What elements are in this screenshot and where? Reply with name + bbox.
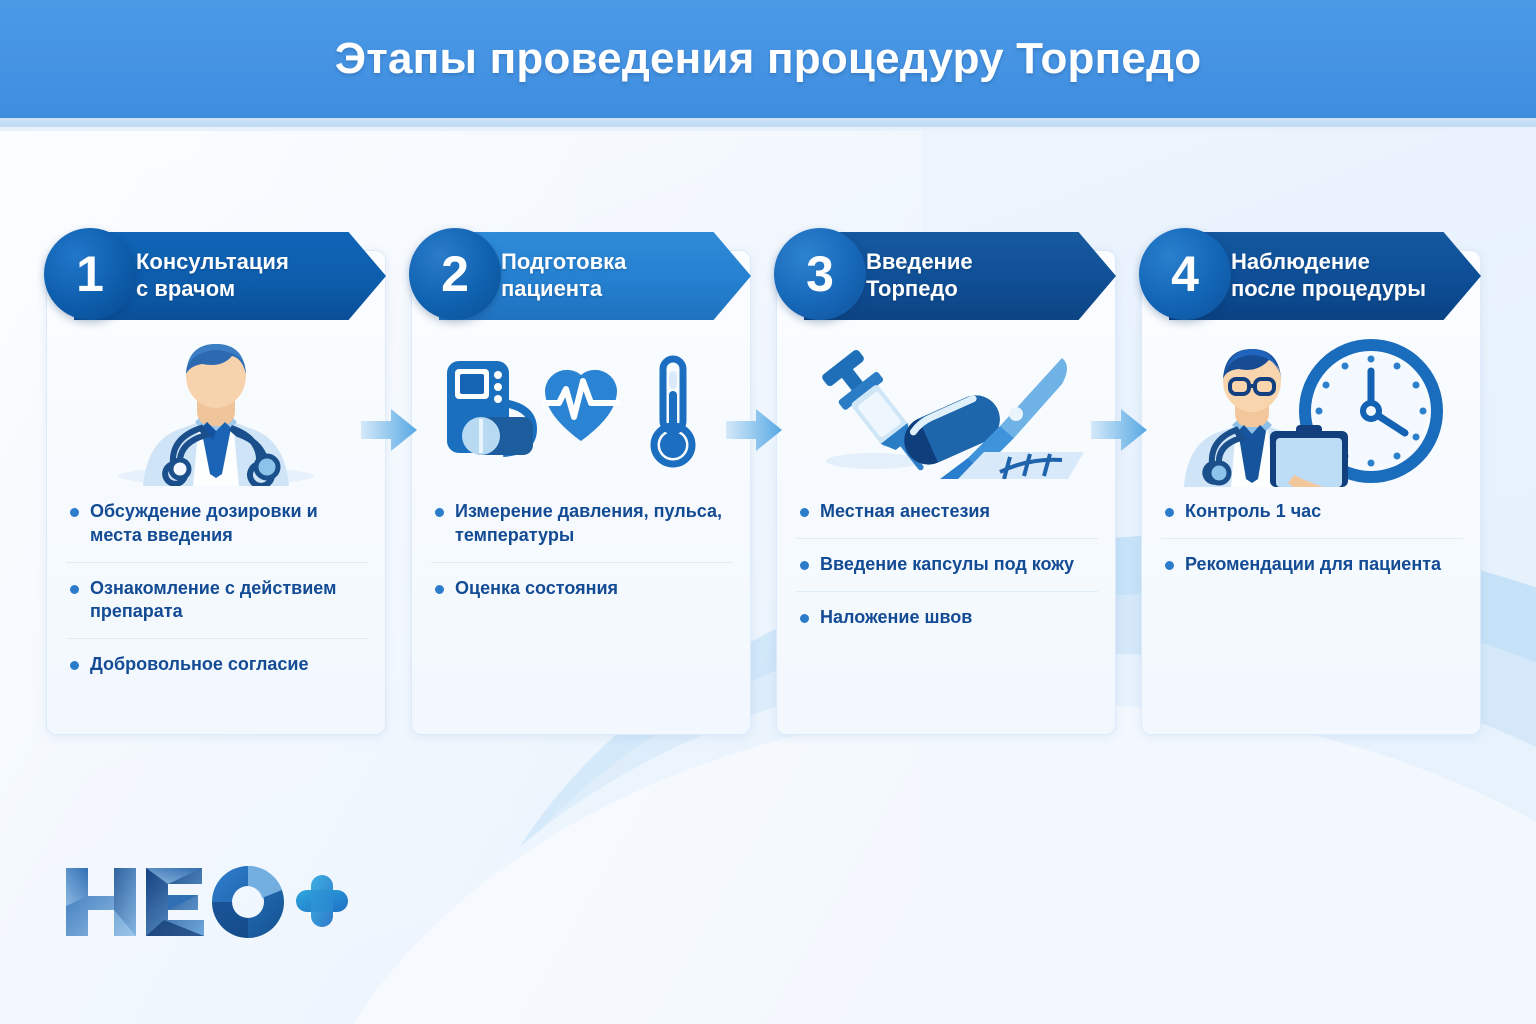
page-header: Этапы проведения процедуру Торпедо xyxy=(0,0,1536,118)
list-item: Ознакомление с действием препарата xyxy=(66,562,368,639)
bullet-dot-icon xyxy=(435,508,444,517)
bullet-dot-icon xyxy=(435,585,444,594)
step-title-4: Наблюдение после процедуры xyxy=(1231,249,1426,303)
list-item: Обсуждение дозировки и места введения xyxy=(66,494,368,562)
list-item: Рекомендации для пациента xyxy=(1161,538,1463,591)
step-number-2: 2 xyxy=(441,245,469,303)
list-item: Введение капсулы под кожу xyxy=(796,538,1098,591)
step-number-badge-1: 1 xyxy=(44,228,136,320)
heart-ecg-icon xyxy=(545,370,617,441)
step-card-body-2 xyxy=(411,250,751,735)
brand-logo xyxy=(62,862,352,947)
syringe-capsule-scalpel-sutures-icon xyxy=(786,336,1106,486)
list-item: Наложение швов xyxy=(796,591,1098,644)
header-accent-strip xyxy=(0,118,1536,127)
step-number-badge-3: 3 xyxy=(774,228,866,320)
step-number-1: 1 xyxy=(76,245,104,303)
bullet-dot-icon xyxy=(800,561,809,570)
doctor-with-clipboard-and-clock-icon xyxy=(1151,336,1471,486)
page-title: Этапы проведения процедуру Торпедо xyxy=(335,34,1202,84)
clipboard-icon xyxy=(1270,425,1348,487)
arrow-step3-to-step4 xyxy=(1091,408,1147,452)
list-item: Контроль 1 час xyxy=(1161,494,1463,538)
step-card-1[interactable]: Консультация с врачом 1 xyxy=(46,232,386,742)
step-title-2: Подготовка пациента xyxy=(501,249,626,303)
bullet-dot-icon xyxy=(800,508,809,517)
thermometer-icon xyxy=(654,359,692,464)
step-bullets-4: Контроль 1 час Рекомендации для пациента xyxy=(1161,494,1463,591)
arrow-step2-to-step3 xyxy=(726,408,782,452)
step-number-badge-4: 4 xyxy=(1139,228,1231,320)
bullet-dot-icon xyxy=(70,585,79,594)
blood-pressure-monitor-heart-thermometer-icon xyxy=(421,336,741,486)
step-bullets-3: Местная анестезия Введение капсулы под к… xyxy=(796,494,1098,643)
list-item: Измерение давления, пульса, температуры xyxy=(431,494,733,562)
bullet-dot-icon xyxy=(800,614,809,623)
arrow-step1-to-step2 xyxy=(361,408,417,452)
step-title-1: Консультация с врачом xyxy=(136,249,289,303)
neo-plus-logo-icon xyxy=(62,862,352,942)
list-item: Оценка состояния xyxy=(431,562,733,615)
steps-row: Консультация с врачом 1 xyxy=(46,232,1490,742)
step-card-4[interactable]: Наблюдение после процедуры 4 xyxy=(1141,232,1481,742)
bullet-dot-icon xyxy=(1165,508,1174,517)
blood-pressure-monitor-icon xyxy=(447,361,533,455)
step-bullets-2: Измерение давления, пульса, температуры … xyxy=(431,494,733,614)
list-item: Местная анестезия xyxy=(796,494,1098,538)
bullet-dot-icon xyxy=(70,508,79,517)
header-accent-strip-secondary xyxy=(0,127,1536,131)
step-card-body-3 xyxy=(776,250,1116,735)
bullet-dot-icon xyxy=(1165,561,1174,570)
step-number-4: 4 xyxy=(1171,245,1199,303)
step-title-3: Введение Торпедо xyxy=(866,249,973,303)
step-number-3: 3 xyxy=(806,245,834,303)
step-number-badge-2: 2 xyxy=(409,228,501,320)
step-bullets-1: Обсуждение дозировки и места введения Оз… xyxy=(66,494,368,691)
list-item: Добровольное согласие xyxy=(66,638,368,691)
step-card-body-4 xyxy=(1141,250,1481,735)
bullet-dot-icon xyxy=(70,661,79,670)
step-card-2[interactable]: Подготовка пациента 2 xyxy=(411,232,751,742)
step-card-3[interactable]: Введение Торпедо 3 xyxy=(776,232,1116,742)
doctor-with-stethoscope-icon xyxy=(56,336,376,486)
